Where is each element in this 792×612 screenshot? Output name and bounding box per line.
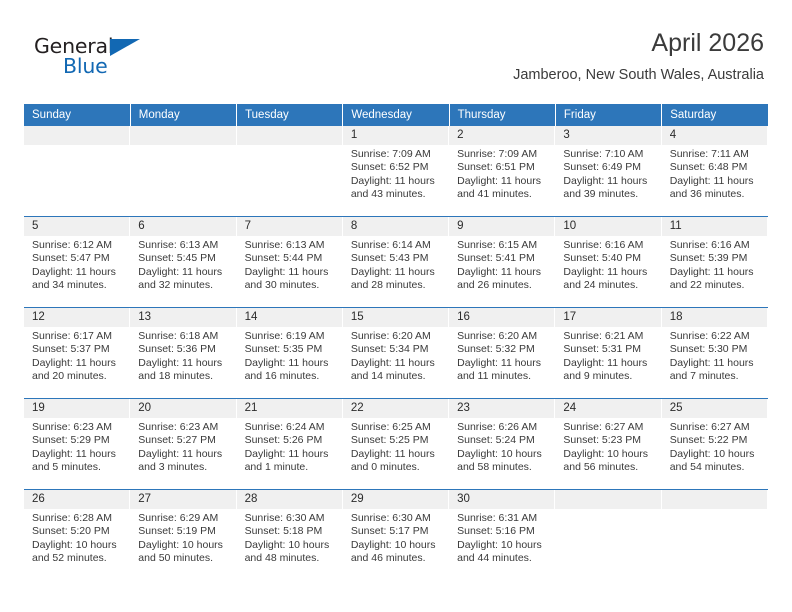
- day-number: 30: [449, 490, 555, 509]
- sunrise-text: Sunrise: 6:30 AM: [351, 512, 443, 525]
- daylight-text: Daylight: 11 hours and 16 minutes.: [245, 357, 337, 384]
- day-cell[interactable]: 4Sunrise: 7:11 AMSunset: 6:48 PMDaylight…: [662, 126, 768, 217]
- daylight-text: Daylight: 10 hours and 56 minutes.: [563, 448, 655, 475]
- weekday-header-sunday: Sunday: [24, 104, 130, 126]
- day-number: 26: [24, 490, 130, 509]
- day-cell[interactable]: 2Sunrise: 7:09 AMSunset: 6:51 PMDaylight…: [449, 126, 555, 217]
- daylight-text: Daylight: 11 hours and 11 minutes.: [457, 357, 549, 384]
- sunset-text: Sunset: 5:26 PM: [245, 434, 337, 447]
- day-number: 20: [130, 399, 236, 418]
- daylight-text: Daylight: 11 hours and 43 minutes.: [351, 175, 443, 202]
- daylight-text: Daylight: 11 hours and 24 minutes.: [563, 266, 655, 293]
- day-number: 5: [24, 217, 130, 236]
- calendar-body: 1Sunrise: 7:09 AMSunset: 6:52 PMDaylight…: [24, 126, 768, 580]
- sunrise-text: Sunrise: 6:21 AM: [563, 330, 655, 343]
- day-number: [130, 126, 236, 145]
- page-header: General Blue April 2026 Jamberoo, New So…: [24, 28, 768, 102]
- location-subtitle: Jamberoo, New South Wales, Australia: [513, 67, 764, 83]
- sunrise-text: Sunrise: 7:09 AM: [351, 148, 443, 161]
- day-details: Sunrise: 6:31 AMSunset: 5:16 PMDaylight:…: [449, 509, 555, 566]
- sunrise-text: Sunrise: 7:10 AM: [563, 148, 655, 161]
- day-cell[interactable]: 8Sunrise: 6:14 AMSunset: 5:43 PMDaylight…: [343, 217, 449, 308]
- day-details: Sunrise: 7:09 AMSunset: 6:51 PMDaylight:…: [449, 145, 555, 202]
- daylight-text: Daylight: 10 hours and 54 minutes.: [670, 448, 762, 475]
- day-details: Sunrise: 6:13 AMSunset: 5:44 PMDaylight:…: [237, 236, 343, 293]
- sunset-text: Sunset: 5:44 PM: [245, 252, 337, 265]
- sunset-text: Sunset: 6:48 PM: [670, 161, 762, 174]
- day-cell[interactable]: 26Sunrise: 6:28 AMSunset: 5:20 PMDayligh…: [24, 490, 130, 581]
- day-cell-empty: [555, 490, 661, 581]
- weekday-header-tuesday: Tuesday: [237, 104, 343, 126]
- daylight-text: Daylight: 10 hours and 58 minutes.: [457, 448, 549, 475]
- day-number: 8: [343, 217, 449, 236]
- day-number: 25: [662, 399, 768, 418]
- day-number: [555, 490, 661, 509]
- sunset-text: Sunset: 5:41 PM: [457, 252, 549, 265]
- daylight-text: Daylight: 11 hours and 1 minute.: [245, 448, 337, 475]
- day-number: 18: [662, 308, 768, 327]
- sunrise-text: Sunrise: 6:28 AM: [32, 512, 124, 525]
- day-details: Sunrise: 6:28 AMSunset: 5:20 PMDaylight:…: [24, 509, 130, 566]
- day-number: 7: [237, 217, 343, 236]
- calendar-week-row: 12Sunrise: 6:17 AMSunset: 5:37 PMDayligh…: [24, 308, 768, 399]
- sunrise-text: Sunrise: 6:12 AM: [32, 239, 124, 252]
- sunrise-text: Sunrise: 7:11 AM: [670, 148, 762, 161]
- day-cell[interactable]: 10Sunrise: 6:16 AMSunset: 5:40 PMDayligh…: [555, 217, 661, 308]
- day-cell[interactable]: 14Sunrise: 6:19 AMSunset: 5:35 PMDayligh…: [237, 308, 343, 399]
- day-number: 10: [555, 217, 661, 236]
- daylight-text: Daylight: 10 hours and 50 minutes.: [138, 539, 230, 566]
- sunset-text: Sunset: 5:35 PM: [245, 343, 337, 356]
- sunrise-text: Sunrise: 6:23 AM: [32, 421, 124, 434]
- day-details: Sunrise: 6:22 AMSunset: 5:30 PMDaylight:…: [662, 327, 768, 384]
- sunrise-text: Sunrise: 6:13 AM: [245, 239, 337, 252]
- sunset-text: Sunset: 5:22 PM: [670, 434, 762, 447]
- calendar-page: General Blue April 2026 Jamberoo, New So…: [0, 0, 792, 612]
- day-number: 22: [343, 399, 449, 418]
- day-cell[interactable]: 3Sunrise: 7:10 AMSunset: 6:49 PMDaylight…: [555, 126, 661, 217]
- daylight-text: Daylight: 11 hours and 14 minutes.: [351, 357, 443, 384]
- day-number: 4: [662, 126, 768, 145]
- day-details: Sunrise: 7:09 AMSunset: 6:52 PMDaylight:…: [343, 145, 449, 202]
- day-cell[interactable]: 20Sunrise: 6:23 AMSunset: 5:27 PMDayligh…: [130, 399, 236, 490]
- day-cell[interactable]: 16Sunrise: 6:20 AMSunset: 5:32 PMDayligh…: [449, 308, 555, 399]
- day-details: Sunrise: 6:17 AMSunset: 5:37 PMDaylight:…: [24, 327, 130, 384]
- daylight-text: Daylight: 11 hours and 3 minutes.: [138, 448, 230, 475]
- daylight-text: Daylight: 11 hours and 9 minutes.: [563, 357, 655, 384]
- day-cell[interactable]: 17Sunrise: 6:21 AMSunset: 5:31 PMDayligh…: [555, 308, 661, 399]
- sunrise-text: Sunrise: 6:30 AM: [245, 512, 337, 525]
- sunset-text: Sunset: 6:51 PM: [457, 161, 549, 174]
- day-details: Sunrise: 6:26 AMSunset: 5:24 PMDaylight:…: [449, 418, 555, 475]
- sunrise-text: Sunrise: 6:16 AM: [670, 239, 762, 252]
- day-cell-empty: [130, 126, 236, 217]
- day-details: Sunrise: 6:20 AMSunset: 5:34 PMDaylight:…: [343, 327, 449, 384]
- day-cell[interactable]: 27Sunrise: 6:29 AMSunset: 5:19 PMDayligh…: [130, 490, 236, 581]
- daylight-text: Daylight: 10 hours and 52 minutes.: [32, 539, 124, 566]
- calendar-week-row: 19Sunrise: 6:23 AMSunset: 5:29 PMDayligh…: [24, 399, 768, 490]
- calendar-week-row: 1Sunrise: 7:09 AMSunset: 6:52 PMDaylight…: [24, 126, 768, 217]
- day-number: 17: [555, 308, 661, 327]
- sunset-text: Sunset: 5:36 PM: [138, 343, 230, 356]
- daylight-text: Daylight: 11 hours and 28 minutes.: [351, 266, 443, 293]
- day-details: Sunrise: 6:14 AMSunset: 5:43 PMDaylight:…: [343, 236, 449, 293]
- day-details: [662, 509, 768, 512]
- day-details: Sunrise: 6:12 AMSunset: 5:47 PMDaylight:…: [24, 236, 130, 293]
- weekday-header-thursday: Thursday: [449, 104, 555, 126]
- day-number: 2: [449, 126, 555, 145]
- sunset-text: Sunset: 5:18 PM: [245, 525, 337, 538]
- sunrise-text: Sunrise: 6:19 AM: [245, 330, 337, 343]
- sunset-text: Sunset: 5:30 PM: [670, 343, 762, 356]
- day-cell[interactable]: 12Sunrise: 6:17 AMSunset: 5:37 PMDayligh…: [24, 308, 130, 399]
- day-cell[interactable]: 21Sunrise: 6:24 AMSunset: 5:26 PMDayligh…: [237, 399, 343, 490]
- daylight-text: Daylight: 11 hours and 41 minutes.: [457, 175, 549, 202]
- sunset-text: Sunset: 5:25 PM: [351, 434, 443, 447]
- calendar-header-row: Sunday Monday Tuesday Wednesday Thursday…: [24, 104, 768, 126]
- day-number: 14: [237, 308, 343, 327]
- sunset-text: Sunset: 5:17 PM: [351, 525, 443, 538]
- day-number: 16: [449, 308, 555, 327]
- daylight-text: Daylight: 11 hours and 18 minutes.: [138, 357, 230, 384]
- day-number: 28: [237, 490, 343, 509]
- logo-triangle-icon: [110, 39, 140, 56]
- day-cell[interactable]: 28Sunrise: 6:30 AMSunset: 5:18 PMDayligh…: [237, 490, 343, 581]
- sunset-text: Sunset: 5:43 PM: [351, 252, 443, 265]
- day-cell[interactable]: 25Sunrise: 6:27 AMSunset: 5:22 PMDayligh…: [662, 399, 768, 490]
- sunrise-text: Sunrise: 6:22 AM: [670, 330, 762, 343]
- day-details: Sunrise: 6:16 AMSunset: 5:39 PMDaylight:…: [662, 236, 768, 293]
- sunset-text: Sunset: 5:29 PM: [32, 434, 124, 447]
- day-number: 15: [343, 308, 449, 327]
- day-details: Sunrise: 6:27 AMSunset: 5:22 PMDaylight:…: [662, 418, 768, 475]
- sunset-text: Sunset: 5:34 PM: [351, 343, 443, 356]
- logo-text-blue: Blue: [63, 56, 108, 77]
- sunrise-text: Sunrise: 6:18 AM: [138, 330, 230, 343]
- sunset-text: Sunset: 5:20 PM: [32, 525, 124, 538]
- day-details: [555, 509, 661, 512]
- day-cell-empty: [237, 126, 343, 217]
- day-number: 12: [24, 308, 130, 327]
- title-block: April 2026 Jamberoo, New South Wales, Au…: [513, 28, 764, 83]
- day-number: 9: [449, 217, 555, 236]
- day-number: 11: [662, 217, 768, 236]
- day-cell-empty: [662, 490, 768, 581]
- sunset-text: Sunset: 5:39 PM: [670, 252, 762, 265]
- day-number: [237, 126, 343, 145]
- sunset-text: Sunset: 6:52 PM: [351, 161, 443, 174]
- day-details: Sunrise: 6:24 AMSunset: 5:26 PMDaylight:…: [237, 418, 343, 475]
- calendar-table: Sunday Monday Tuesday Wednesday Thursday…: [24, 104, 768, 580]
- day-details: Sunrise: 6:27 AMSunset: 5:23 PMDaylight:…: [555, 418, 661, 475]
- sunset-text: Sunset: 5:40 PM: [563, 252, 655, 265]
- daylight-text: Daylight: 11 hours and 34 minutes.: [32, 266, 124, 293]
- daylight-text: Daylight: 10 hours and 44 minutes.: [457, 539, 549, 566]
- day-details: Sunrise: 6:19 AMSunset: 5:35 PMDaylight:…: [237, 327, 343, 384]
- day-details: Sunrise: 6:18 AMSunset: 5:36 PMDaylight:…: [130, 327, 236, 384]
- general-blue-logo: General Blue: [34, 36, 164, 82]
- day-cell[interactable]: 13Sunrise: 6:18 AMSunset: 5:36 PMDayligh…: [130, 308, 236, 399]
- day-details: Sunrise: 6:30 AMSunset: 5:17 PMDaylight:…: [343, 509, 449, 566]
- day-details: Sunrise: 6:13 AMSunset: 5:45 PMDaylight:…: [130, 236, 236, 293]
- day-cell[interactable]: 1Sunrise: 7:09 AMSunset: 6:52 PMDaylight…: [343, 126, 449, 217]
- day-number: 13: [130, 308, 236, 327]
- sunset-text: Sunset: 5:19 PM: [138, 525, 230, 538]
- day-cell[interactable]: 15Sunrise: 6:20 AMSunset: 5:34 PMDayligh…: [343, 308, 449, 399]
- sunrise-text: Sunrise: 6:26 AM: [457, 421, 549, 434]
- sunrise-text: Sunrise: 6:24 AM: [245, 421, 337, 434]
- day-details: Sunrise: 6:29 AMSunset: 5:19 PMDaylight:…: [130, 509, 236, 566]
- calendar-grid: Sunday Monday Tuesday Wednesday Thursday…: [24, 104, 768, 580]
- day-number: 19: [24, 399, 130, 418]
- page-title: April 2026: [513, 28, 764, 59]
- sunrise-text: Sunrise: 6:20 AM: [351, 330, 443, 343]
- day-details: Sunrise: 6:23 AMSunset: 5:29 PMDaylight:…: [24, 418, 130, 475]
- day-number: 3: [555, 126, 661, 145]
- sunset-text: Sunset: 5:45 PM: [138, 252, 230, 265]
- day-cell[interactable]: 18Sunrise: 6:22 AMSunset: 5:30 PMDayligh…: [662, 308, 768, 399]
- day-number: 1: [343, 126, 449, 145]
- sunrise-text: Sunrise: 7:09 AM: [457, 148, 549, 161]
- daylight-text: Daylight: 10 hours and 48 minutes.: [245, 539, 337, 566]
- calendar-week-row: 26Sunrise: 6:28 AMSunset: 5:20 PMDayligh…: [24, 490, 768, 581]
- day-details: Sunrise: 6:25 AMSunset: 5:25 PMDaylight:…: [343, 418, 449, 475]
- day-details: Sunrise: 6:30 AMSunset: 5:18 PMDaylight:…: [237, 509, 343, 566]
- sunset-text: Sunset: 5:47 PM: [32, 252, 124, 265]
- day-details: Sunrise: 6:21 AMSunset: 5:31 PMDaylight:…: [555, 327, 661, 384]
- day-cell-empty: [24, 126, 130, 217]
- daylight-text: Daylight: 10 hours and 46 minutes.: [351, 539, 443, 566]
- sunrise-text: Sunrise: 6:27 AM: [563, 421, 655, 434]
- day-cell[interactable]: 22Sunrise: 6:25 AMSunset: 5:25 PMDayligh…: [343, 399, 449, 490]
- sunrise-text: Sunrise: 6:14 AM: [351, 239, 443, 252]
- sunrise-text: Sunrise: 6:20 AM: [457, 330, 549, 343]
- day-cell[interactable]: 19Sunrise: 6:23 AMSunset: 5:29 PMDayligh…: [24, 399, 130, 490]
- day-cell[interactable]: 9Sunrise: 6:15 AMSunset: 5:41 PMDaylight…: [449, 217, 555, 308]
- day-number: 29: [343, 490, 449, 509]
- day-cell[interactable]: 6Sunrise: 6:13 AMSunset: 5:45 PMDaylight…: [130, 217, 236, 308]
- weekday-header-saturday: Saturday: [662, 104, 768, 126]
- sunset-text: Sunset: 5:23 PM: [563, 434, 655, 447]
- day-details: Sunrise: 7:10 AMSunset: 6:49 PMDaylight:…: [555, 145, 661, 202]
- day-cell[interactable]: 29Sunrise: 6:30 AMSunset: 5:17 PMDayligh…: [343, 490, 449, 581]
- sunset-text: Sunset: 5:16 PM: [457, 525, 549, 538]
- sunrise-text: Sunrise: 6:29 AM: [138, 512, 230, 525]
- sunrise-text: Sunrise: 6:25 AM: [351, 421, 443, 434]
- day-cell[interactable]: 30Sunrise: 6:31 AMSunset: 5:16 PMDayligh…: [449, 490, 555, 581]
- day-details: Sunrise: 6:16 AMSunset: 5:40 PMDaylight:…: [555, 236, 661, 293]
- daylight-text: Daylight: 11 hours and 7 minutes.: [670, 357, 762, 384]
- sunrise-text: Sunrise: 6:16 AM: [563, 239, 655, 252]
- day-number: [24, 126, 130, 145]
- daylight-text: Daylight: 11 hours and 26 minutes.: [457, 266, 549, 293]
- sunrise-text: Sunrise: 6:27 AM: [670, 421, 762, 434]
- weekday-header-monday: Monday: [130, 104, 236, 126]
- weekday-header-wednesday: Wednesday: [343, 104, 449, 126]
- sunrise-text: Sunrise: 6:15 AM: [457, 239, 549, 252]
- sunset-text: Sunset: 5:32 PM: [457, 343, 549, 356]
- sunset-text: Sunset: 5:31 PM: [563, 343, 655, 356]
- daylight-text: Daylight: 11 hours and 39 minutes.: [563, 175, 655, 202]
- day-number: 21: [237, 399, 343, 418]
- daylight-text: Daylight: 11 hours and 30 minutes.: [245, 266, 337, 293]
- weekday-header-friday: Friday: [555, 104, 661, 126]
- daylight-text: Daylight: 11 hours and 0 minutes.: [351, 448, 443, 475]
- day-details: Sunrise: 6:23 AMSunset: 5:27 PMDaylight:…: [130, 418, 236, 475]
- daylight-text: Daylight: 11 hours and 5 minutes.: [32, 448, 124, 475]
- day-details: [24, 145, 130, 148]
- day-details: Sunrise: 6:20 AMSunset: 5:32 PMDaylight:…: [449, 327, 555, 384]
- day-number: 24: [555, 399, 661, 418]
- daylight-text: Daylight: 11 hours and 22 minutes.: [670, 266, 762, 293]
- daylight-text: Daylight: 11 hours and 36 minutes.: [670, 175, 762, 202]
- day-cell[interactable]: 24Sunrise: 6:27 AMSunset: 5:23 PMDayligh…: [555, 399, 661, 490]
- day-cell[interactable]: 11Sunrise: 6:16 AMSunset: 5:39 PMDayligh…: [662, 217, 768, 308]
- daylight-text: Daylight: 11 hours and 32 minutes.: [138, 266, 230, 293]
- sunset-text: Sunset: 5:24 PM: [457, 434, 549, 447]
- day-details: [237, 145, 343, 148]
- day-cell[interactable]: 5Sunrise: 6:12 AMSunset: 5:47 PMDaylight…: [24, 217, 130, 308]
- day-number: 23: [449, 399, 555, 418]
- day-number: 6: [130, 217, 236, 236]
- day-details: [130, 145, 236, 148]
- day-number: 27: [130, 490, 236, 509]
- day-cell[interactable]: 7Sunrise: 6:13 AMSunset: 5:44 PMDaylight…: [237, 217, 343, 308]
- day-number: [662, 490, 768, 509]
- sunrise-text: Sunrise: 6:23 AM: [138, 421, 230, 434]
- sunrise-text: Sunrise: 6:13 AM: [138, 239, 230, 252]
- day-details: Sunrise: 7:11 AMSunset: 6:48 PMDaylight:…: [662, 145, 768, 202]
- sunrise-text: Sunrise: 6:17 AM: [32, 330, 124, 343]
- sunset-text: Sunset: 5:27 PM: [138, 434, 230, 447]
- daylight-text: Daylight: 11 hours and 20 minutes.: [32, 357, 124, 384]
- sunset-text: Sunset: 6:49 PM: [563, 161, 655, 174]
- sunset-text: Sunset: 5:37 PM: [32, 343, 124, 356]
- calendar-week-row: 5Sunrise: 6:12 AMSunset: 5:47 PMDaylight…: [24, 217, 768, 308]
- sunrise-text: Sunrise: 6:31 AM: [457, 512, 549, 525]
- day-details: Sunrise: 6:15 AMSunset: 5:41 PMDaylight:…: [449, 236, 555, 293]
- day-cell[interactable]: 23Sunrise: 6:26 AMSunset: 5:24 PMDayligh…: [449, 399, 555, 490]
